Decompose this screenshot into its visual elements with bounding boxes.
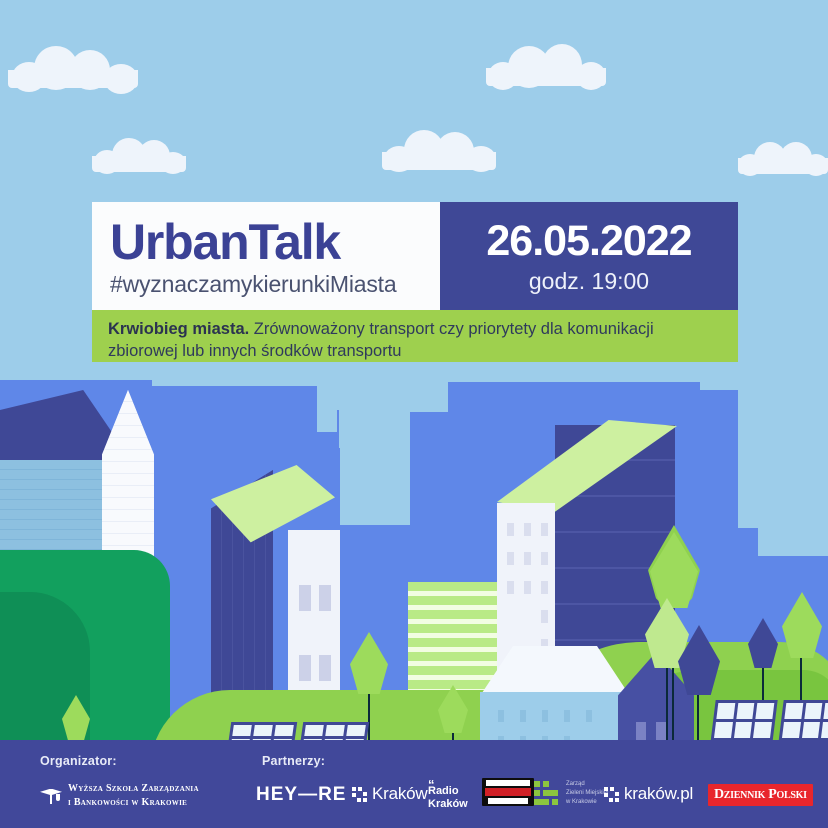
- radio-line1: Radio: [428, 785, 459, 797]
- city-illustration: [0, 370, 828, 760]
- radio-line2: Kraków: [428, 798, 468, 810]
- zdmk-line3: w Krakowie: [566, 799, 597, 805]
- event-date: 26.05.2022: [486, 220, 691, 263]
- logo-krakow-pl[interactable]: kraków.pl: [604, 784, 693, 804]
- date-panel: 26.05.2022 godz. 19:00: [440, 202, 738, 310]
- krakow-mark-icon: [352, 787, 367, 802]
- zdmk-mark-icon: [532, 781, 560, 807]
- event-time: godz. 19:00: [529, 270, 649, 293]
- krakowski-teatr-mark-icon: [482, 778, 534, 806]
- wszib-name: Wyższa Szkoła Zarządzania i Bankowości w…: [68, 782, 199, 809]
- krakow-pl-label: kraków.pl: [624, 784, 693, 804]
- zdmk-name: Zarząd Zieleni Miejskiej w Krakowie: [566, 780, 608, 807]
- logo-dziennik-polski[interactable]: Dziennik Polski: [708, 784, 813, 806]
- heyre-label: HEY—RE: [256, 784, 346, 806]
- logo-radio-krakow[interactable]: “ Radio Kraków: [428, 778, 468, 810]
- page-title: UrbanTalk: [110, 217, 440, 267]
- radio-krakow-name: “ Radio Kraków: [428, 778, 468, 810]
- hashtag-subtitle: #wyznaczamykierunkiMiasta: [110, 273, 440, 296]
- window: [299, 585, 311, 611]
- logo-krakow[interactable]: Kraków: [352, 784, 428, 804]
- window: [299, 655, 311, 681]
- window: [319, 655, 331, 681]
- cloud-icon: [486, 44, 606, 86]
- krakow-pl-mark-icon: [604, 787, 619, 802]
- quote-icon: “: [428, 778, 468, 785]
- tree-leaf: [350, 632, 388, 694]
- logo-wszib[interactable]: Wyższa Szkoła Zarządzania i Bankowości w…: [40, 782, 199, 809]
- partners-label: Partnerzy:: [262, 754, 325, 768]
- dziennik-polski-label: Dziennik Polski: [708, 784, 813, 806]
- graduation-cap-icon: [40, 788, 62, 804]
- title-panel: UrbanTalk #wyznaczamykierunkiMiasta: [92, 202, 440, 310]
- footer-bar: Organizator: Partnerzy: Wyższa Szkoła Za…: [0, 740, 828, 828]
- logo-heyre[interactable]: HEY—RE: [256, 784, 346, 806]
- wszib-line1: Wyższa Szkoła Zarządzania: [68, 782, 199, 796]
- building-white-gable: [102, 390, 154, 560]
- zdmk-line2: Zieleni Miejskiej: [566, 790, 608, 796]
- building-striped-wall: [0, 460, 105, 560]
- wszib-line2: i Bankowości w Krakowie: [68, 796, 199, 810]
- lead-bold: Krwiobieg miasta.: [108, 320, 249, 338]
- cloud-icon: [92, 138, 186, 172]
- lead-banner: Krwiobieg miasta. Zrównoważony transport…: [92, 310, 738, 362]
- window: [319, 585, 331, 611]
- cloud-icon: [8, 46, 138, 88]
- logo-zdmk[interactable]: Zarząd Zieleni Miejskiej w Krakowie: [532, 780, 608, 807]
- cloud-icon: [382, 130, 496, 170]
- cloud-icon: [738, 142, 828, 174]
- poster-canvas: UrbanTalk #wyznaczamykierunkiMiasta 26.0…: [0, 0, 828, 828]
- organizer-label: Organizator:: [40, 754, 117, 768]
- krakow-label: Kraków: [372, 784, 428, 804]
- lead-text: Krwiobieg miasta. Zrównoważony transport…: [108, 318, 722, 363]
- zdmk-line1: Zarząd: [566, 781, 585, 787]
- logo-krakowski-teatr[interactable]: [482, 778, 534, 806]
